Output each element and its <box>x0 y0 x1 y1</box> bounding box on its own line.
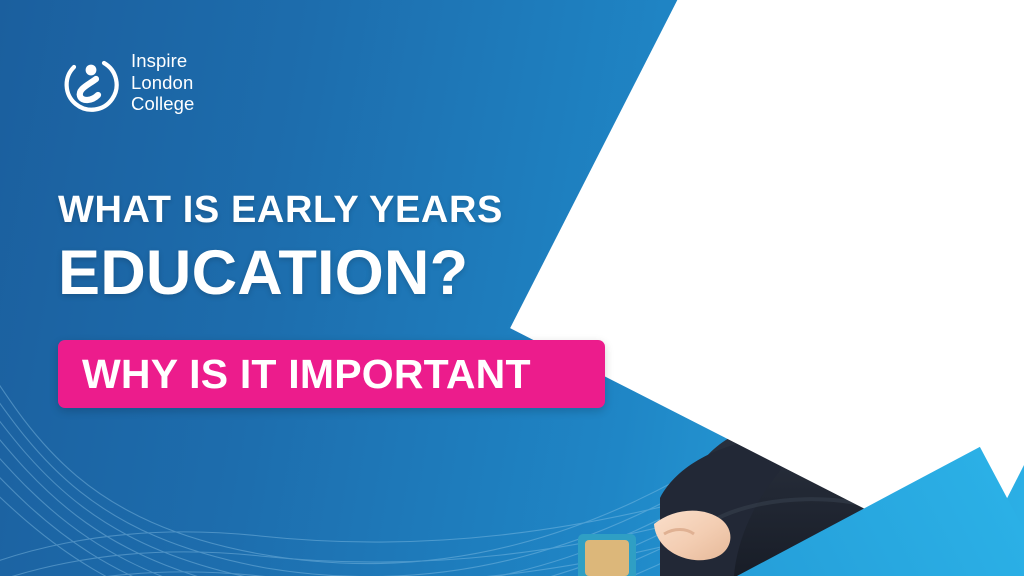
brand-name: Inspire London College <box>131 50 194 115</box>
brand-logo[interactable]: Inspire London College <box>58 50 194 115</box>
hero-subtitle-text: WHY IS IT IMPORTANT <box>82 351 531 398</box>
baby-head <box>816 20 1018 283</box>
hero-title: EDUCATION? <box>58 240 503 307</box>
block-AB: A B <box>710 324 793 429</box>
block-G: G <box>914 366 973 425</box>
hero-eyebrow: WHAT IS EARLY YEARS <box>58 191 503 229</box>
hero-headline: WHAT IS EARLY YEARS EDUCATION? <box>58 191 503 307</box>
baby-photo: Z G A B <box>564 0 1024 576</box>
hero-banner: Z G A B <box>0 0 1024 576</box>
block-floor <box>578 534 636 576</box>
svg-text:G: G <box>931 381 958 416</box>
inspire-i-circle-logo <box>58 51 120 113</box>
block-Z: Z <box>860 339 924 403</box>
hero-subtitle-banner: WHY IS IT IMPORTANT <box>58 340 605 408</box>
